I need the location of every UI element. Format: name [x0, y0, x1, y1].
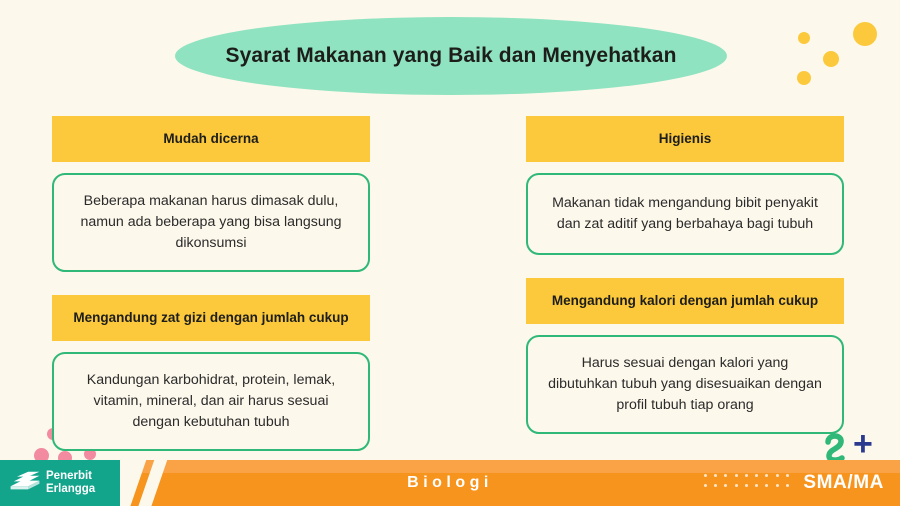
- slide-title-pill: Syarat Makanan yang Baik dan Menyehatkan: [175, 17, 727, 95]
- card-header: Mengandung kalori dengan jumlah cukup: [526, 278, 844, 324]
- card-body: Makanan tidak mengandung bibit penyakit …: [526, 173, 844, 255]
- card-header: Mudah dicerna: [52, 116, 370, 162]
- column-right: Higienis Makanan tidak mengandung bibit …: [526, 116, 844, 451]
- publisher-logo: Penerbit Erlangga: [0, 460, 120, 506]
- publisher-name-line1: Penerbit: [46, 470, 95, 483]
- cards-grid: Mudah dicerna Beberapa makanan harus dim…: [52, 116, 844, 451]
- footer-dot-pattern: [704, 474, 794, 491]
- footer-bar: Biologi SMA/MA Penerbit Erlangga: [0, 460, 900, 506]
- slide-canvas: + Syarat Makanan yang Baik dan Menyehatk…: [0, 0, 900, 506]
- footer-education-level: SMA/MA: [803, 460, 884, 506]
- page-title: Syarat Makanan yang Baik dan Menyehatkan: [186, 42, 717, 70]
- yellow-dot-medium: [823, 51, 839, 67]
- card-body: Kandungan karbohidrat, protein, lemak, v…: [52, 352, 370, 451]
- card-higienis: Higienis Makanan tidak mengandung bibit …: [526, 116, 844, 255]
- publisher-name: Penerbit Erlangga: [46, 470, 95, 496]
- yellow-dot-large: [853, 22, 877, 46]
- card-header: Mengandung zat gizi dengan jumlah cukup: [52, 295, 370, 341]
- card-kalori: Mengandung kalori dengan jumlah cukup Ha…: [526, 278, 844, 434]
- card-header: Higienis: [526, 116, 844, 162]
- card-mudah-dicerna: Mudah dicerna Beberapa makanan harus dim…: [52, 116, 370, 272]
- yellow-dot-small-2: [797, 71, 811, 85]
- card-zat-gizi: Mengandung zat gizi dengan jumlah cukup …: [52, 295, 370, 451]
- card-body: Harus sesuai dengan kalori yang dibutuhk…: [526, 335, 844, 434]
- yellow-dot-small-1: [798, 32, 810, 44]
- stacked-books-icon: [9, 471, 41, 495]
- column-left: Mudah dicerna Beberapa makanan harus dim…: [52, 116, 370, 451]
- yellow-dot-cluster: [780, 15, 900, 105]
- publisher-name-line2: Erlangga: [46, 483, 95, 496]
- blue-plus-icon: +: [853, 427, 873, 461]
- card-body: Beberapa makanan harus dimasak dulu, nam…: [52, 173, 370, 272]
